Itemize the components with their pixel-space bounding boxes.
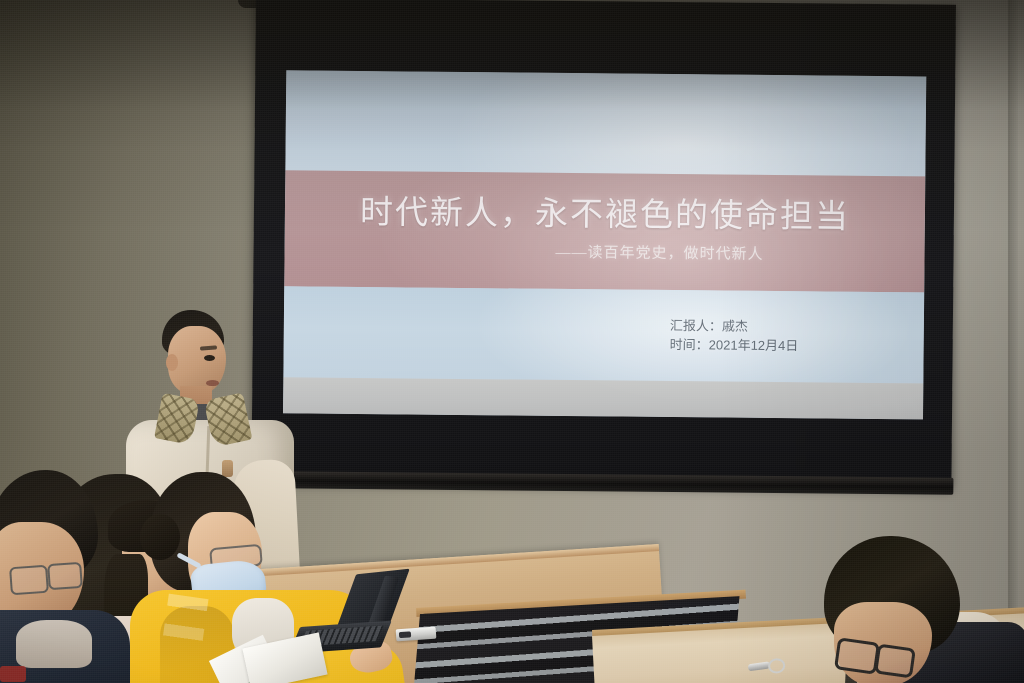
projected-slide: 时代新人，永不褪色的使命担当 ——读百年党史，做时代新人 汇报人：戚杰 时间：2… (283, 70, 926, 419)
slide-band-bottom (283, 286, 924, 383)
slide-band-top (285, 70, 926, 176)
slide-band-foot (283, 377, 923, 419)
seated-person-right (808, 536, 1024, 683)
slide-title: 时代新人，永不褪色的使命担当 (285, 184, 925, 238)
slide-presenter-line: 汇报人：戚杰 (670, 316, 799, 336)
key-body (748, 661, 771, 671)
seated-person-glasses (0, 470, 152, 683)
person4-glasses-right (874, 644, 916, 679)
person1-glasses-right (47, 562, 83, 590)
slide-date-line: 时间：2021年12月4日 (670, 335, 799, 355)
slide-meta-block: 汇报人：戚杰 时间：2021年12月4日 (670, 316, 799, 355)
person1-red-item (0, 666, 26, 682)
person1-collar (16, 620, 92, 668)
presenter-ear (166, 354, 178, 371)
person4-glasses-left (834, 637, 880, 675)
classroom-photo-scene: 时代新人，永不褪色的使命担当 ——读百年党史，做时代新人 汇报人：戚杰 时间：2… (0, 0, 1024, 683)
person1-glasses-left (9, 565, 49, 596)
projection-screen: 时代新人，永不褪色的使命担当 ——读百年党史，做时代新人 汇报人：戚杰 时间：2… (251, 0, 956, 500)
presenter-eye (204, 355, 215, 361)
